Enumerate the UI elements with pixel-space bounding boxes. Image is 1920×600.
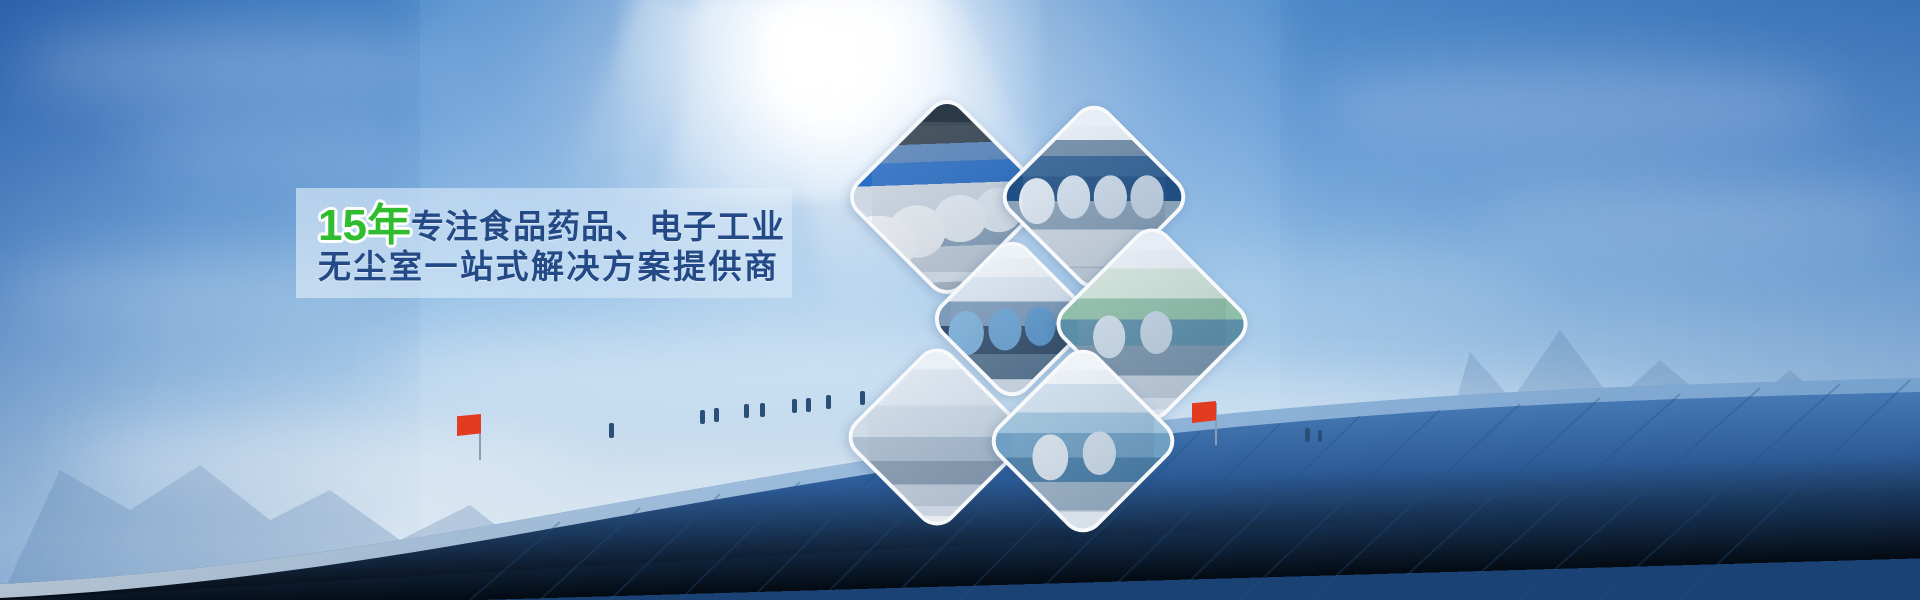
diamond-photo-collage xyxy=(840,80,1290,480)
hero-banner: 15年专注食品药品、电子工业 无尘室一站式解决方案提供商 xyxy=(0,0,1920,600)
page-title: 15年专注食品药品、电子工业 无尘室一站式解决方案提供商 xyxy=(318,200,788,296)
headline-line-1: 15年专注食品药品、电子工业 xyxy=(318,200,788,248)
headline-line-1-rest: 专注食品药品、电子工业 xyxy=(411,208,785,245)
years-badge: 15年 xyxy=(318,201,411,250)
headline-line-2: 无尘室一站式解决方案提供商 xyxy=(318,248,788,296)
